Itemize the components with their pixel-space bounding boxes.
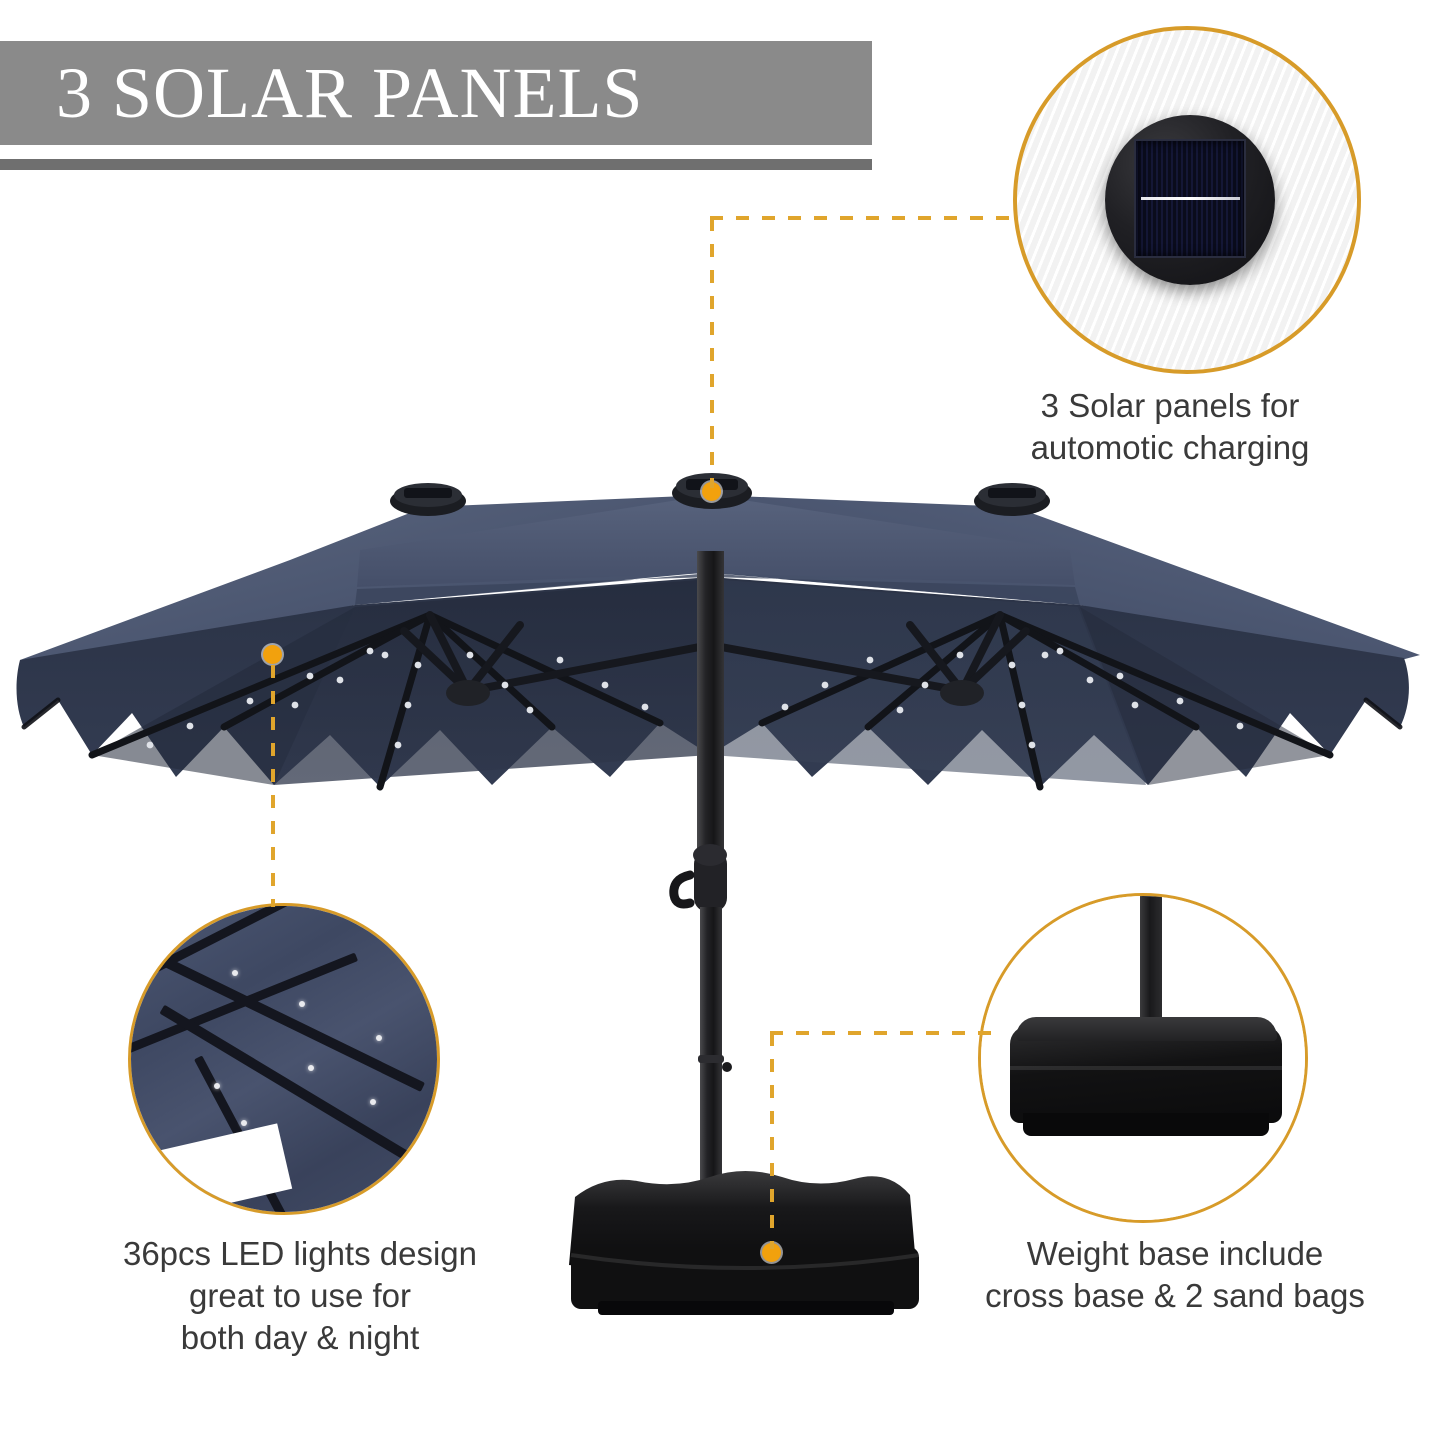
caption-weight-base: Weight base include cross base & 2 sand … bbox=[935, 1233, 1415, 1317]
page-title: 3 SOLAR PANELS bbox=[0, 57, 643, 129]
caption-base-line-2: cross base & 2 sand bags bbox=[935, 1275, 1415, 1317]
base-detail-cross-foot bbox=[1023, 1113, 1269, 1136]
led-dot bbox=[370, 1099, 376, 1105]
solar-hub-left bbox=[390, 483, 466, 516]
connector-base-horizontal bbox=[770, 1031, 1000, 1035]
weight-base bbox=[569, 1171, 919, 1315]
weight-base-detail bbox=[978, 893, 1308, 1223]
connector-base-vertical bbox=[770, 1033, 774, 1249]
connector-solar-vertical bbox=[710, 218, 714, 488]
caption-led-line-1: 36pcs LED lights design bbox=[55, 1233, 545, 1275]
solar-hub-housing bbox=[1105, 115, 1275, 285]
caption-led-line-3: both day & night bbox=[55, 1317, 545, 1359]
solar-hub-right bbox=[974, 483, 1050, 516]
connector-solar-horizontal bbox=[710, 216, 1022, 220]
header-rule bbox=[0, 159, 872, 170]
caption-solar-line-2: automotic charging bbox=[950, 427, 1390, 469]
solar-busbar bbox=[1141, 197, 1241, 200]
caption-led-line-2: great to use for bbox=[55, 1275, 545, 1317]
connector-led-vertical bbox=[271, 665, 275, 907]
caption-solar-line-1: 3 Solar panels for bbox=[950, 385, 1390, 427]
caption-solar-panels: 3 Solar panels for automotic charging bbox=[950, 385, 1390, 469]
base-detail-sandbag bbox=[1010, 1026, 1282, 1123]
solar-panel-detail bbox=[1013, 26, 1361, 374]
header-banner: 3 SOLAR PANELS bbox=[0, 41, 872, 145]
callout-dot-led[interactable] bbox=[263, 645, 282, 664]
solar-panel-cell bbox=[1134, 139, 1246, 258]
caption-base-line-1: Weight base include bbox=[935, 1233, 1415, 1275]
led-lights-detail bbox=[128, 903, 440, 1215]
caption-led-lights: 36pcs LED lights design great to use for… bbox=[55, 1233, 545, 1360]
led-dot bbox=[376, 1035, 382, 1041]
infographic-canvas: 3 SOLAR PANELS bbox=[0, 0, 1445, 1445]
